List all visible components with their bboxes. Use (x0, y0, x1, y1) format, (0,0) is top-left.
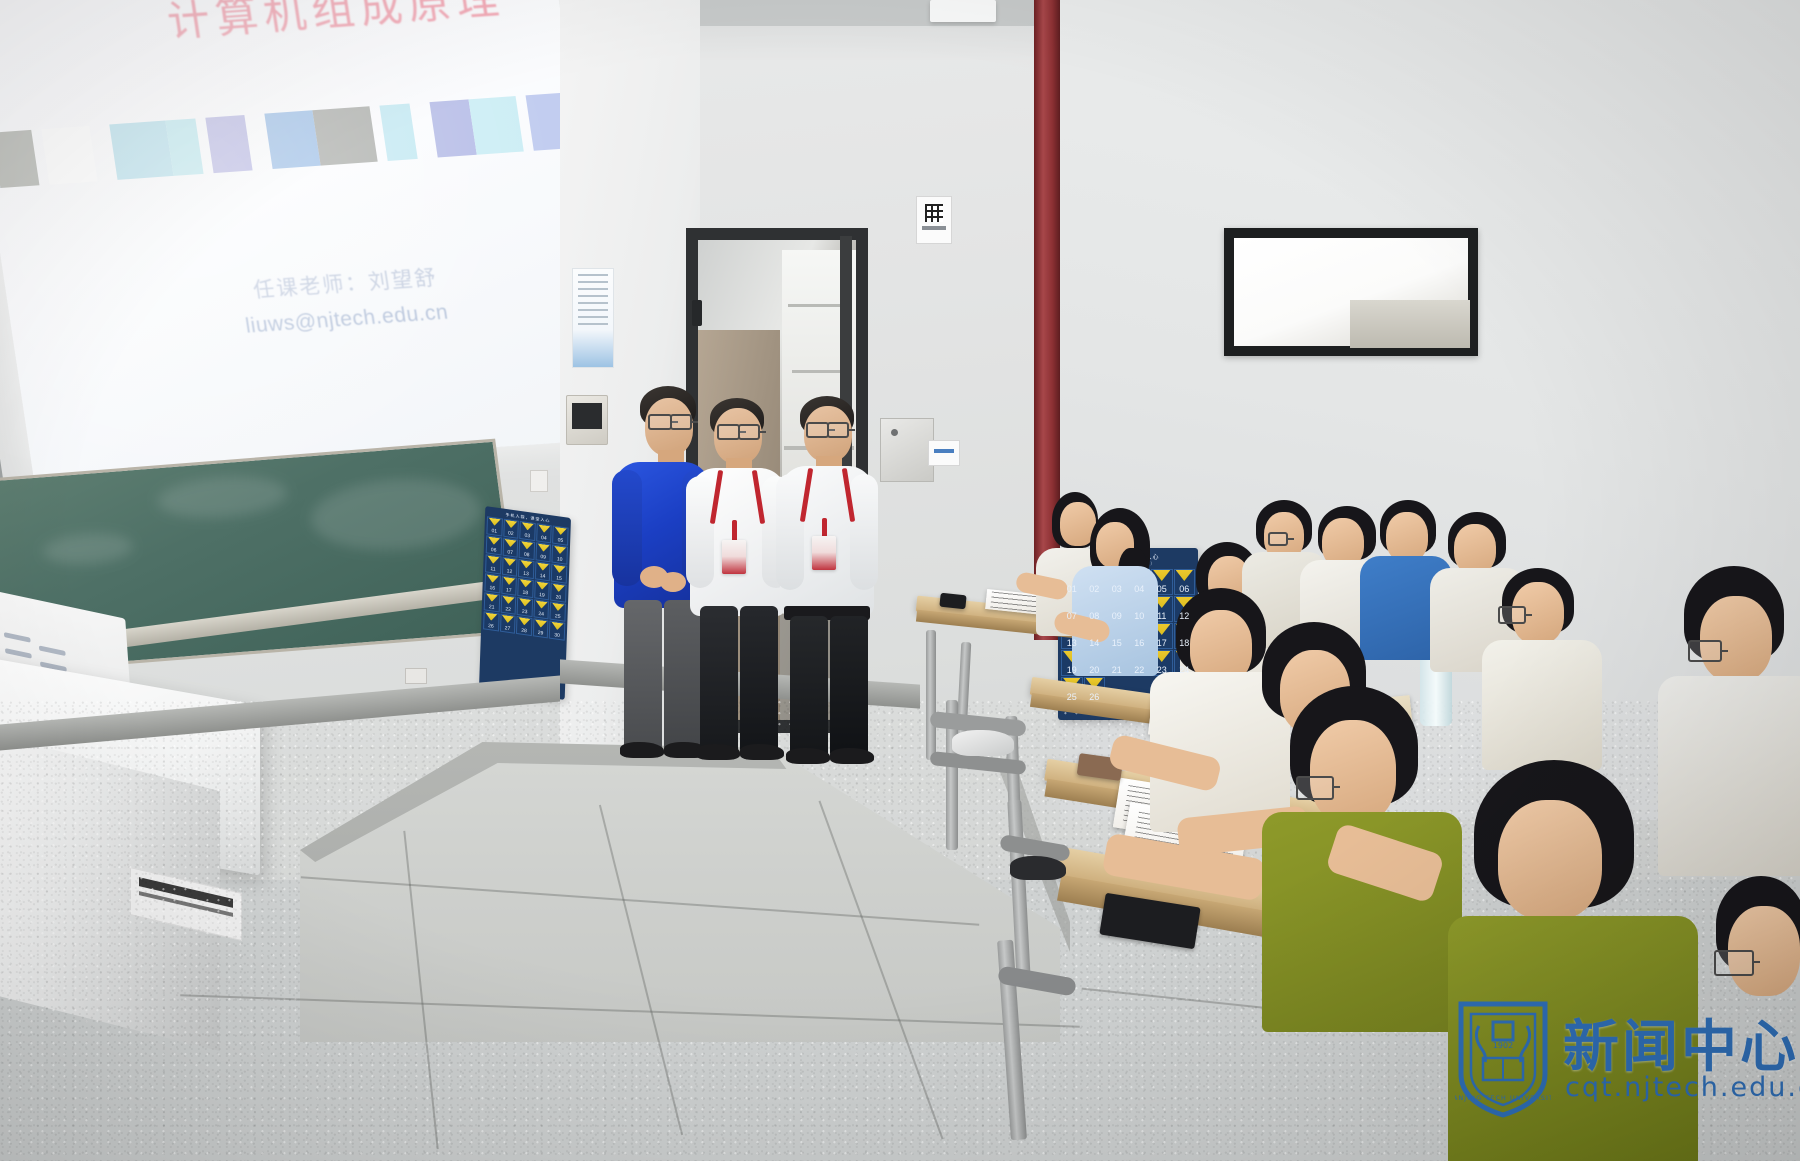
pocket-number: 12 (1179, 612, 1189, 621)
phone-pocket: 06 (1174, 569, 1196, 595)
wall-poster (572, 268, 614, 368)
pocket-number: 06 (491, 548, 497, 554)
pocket-number: 05 (558, 538, 564, 544)
pocket-number: 08 (1089, 612, 1099, 621)
pocket-number: 24 (1179, 666, 1189, 675)
pocket-number: 28 (521, 629, 527, 635)
phone-pocket: 21 (484, 592, 500, 612)
pocket-number: 05 (1157, 585, 1167, 594)
electrical-box (880, 418, 934, 482)
phone-pocket: 05 (552, 526, 568, 546)
pocket-number: 23 (1157, 666, 1167, 675)
pocket-number: 16 (1134, 639, 1144, 648)
qr-icon (925, 204, 943, 222)
university-shield-logo: 1902 NANJING TECH UNIVERSITY (1455, 1000, 1551, 1118)
phone-pocket: 02 (503, 519, 519, 539)
slide-bar-3 (109, 121, 174, 180)
phone-pocket: 04 (536, 523, 552, 543)
phone-pocket: 11 (485, 554, 501, 574)
phone-pocket: 22 (500, 595, 516, 615)
phone-pocket: 09 (535, 542, 551, 562)
shield-motto: NANJING TECH UNIVERSITY (1455, 1094, 1551, 1102)
pocket-number: 18 (522, 591, 528, 597)
pocket-number: 11 (1157, 612, 1166, 621)
phone-on-desk (939, 593, 966, 610)
pocket-number: 10 (1134, 612, 1144, 621)
phone-pocket: 14 (535, 561, 551, 581)
pocket-number: 04 (1134, 585, 1144, 594)
pocket-number: 17 (506, 588, 512, 594)
pocket-number: 06 (1179, 585, 1189, 594)
pocket-number: 25 (555, 614, 561, 620)
svg-text:1902: 1902 (1493, 1041, 1513, 1050)
pocket-number: 03 (1112, 585, 1122, 594)
pocket-number: 13 (1067, 639, 1077, 648)
pocket-number: 03 (524, 534, 530, 540)
pocket-number: 10 (557, 557, 563, 563)
pocket-number: 29 (538, 631, 544, 637)
pocket-number: 20 (1089, 666, 1099, 675)
phone-pocket: 06 (486, 535, 502, 555)
pocket-number: 26 (1089, 693, 1099, 702)
phone-pocket: 18 (517, 578, 533, 598)
phone-pocket: 16 (484, 573, 500, 593)
light-switch (530, 470, 548, 492)
pocket-number: 04 (541, 536, 547, 542)
door-number-plate (928, 440, 960, 466)
pocket-number: 07 (1067, 612, 1077, 621)
phone-pocket: 27 (500, 614, 516, 634)
student-sneaker (952, 730, 1014, 756)
slide-accent-bars (0, 90, 611, 190)
red-pillar (1034, 0, 1060, 640)
phone-pocket: 10 (552, 545, 568, 565)
slide-bar-8 (379, 103, 417, 160)
pocket-number: 18 (1179, 639, 1189, 648)
slide-bar-1 (0, 130, 39, 188)
phone-pocket: 26 (483, 611, 499, 631)
pocket-number: 25 (1067, 693, 1077, 702)
phone-pocket: 07 (502, 538, 518, 558)
phone-pocket: 19 (534, 580, 550, 600)
wall-device-panel (566, 395, 608, 445)
news-center-watermark: 1902 NANJING TECH UNIVERSITY 新闻中心 cqt.nj… (1455, 1000, 1785, 1125)
pocket-number: 24 (538, 612, 544, 618)
pocket-number: 14 (540, 574, 546, 580)
id-badge-2 (812, 536, 836, 570)
pocket-number: 23 (522, 610, 528, 616)
phone-pocket: 01 (486, 516, 502, 536)
phone-pocket: 13 (518, 559, 534, 579)
pocket-number: 20 (556, 595, 562, 601)
pocket-number: 21 (1112, 666, 1122, 675)
ceiling-lamp-1 (930, 0, 996, 22)
slide-email: liuws@njtech.edu.cn (244, 301, 450, 339)
phone-pocket: 23 (517, 597, 533, 617)
qr-code-sign (916, 196, 952, 244)
pocket-number: 22 (1134, 666, 1144, 675)
phone-pocket: 12 (502, 557, 518, 577)
projection-screen: 计算机组成原理 任课老师：刘望舒 liuws@njtech.edu.cn (0, 0, 637, 499)
pocket-number: 09 (1112, 612, 1122, 621)
phone-pocket-board-left: 手机入袋，课堂入心 010203040506070809101112131415… (479, 506, 571, 700)
slide-title: 计算机组成原理 (163, 0, 508, 49)
phone-pocket: 08 (519, 540, 535, 560)
pocket-number: 08 (524, 553, 530, 559)
pocket-number: 22 (505, 607, 511, 613)
id-badge (722, 540, 746, 574)
pocket-number: 26 (488, 624, 494, 630)
watermark-org: 新闻中心 (1563, 1002, 1799, 1083)
student-shoe-2 (1010, 856, 1066, 880)
phone-pocket: 17 (501, 576, 517, 596)
door-hinge (692, 300, 702, 326)
pocket-number: 16 (489, 586, 495, 592)
pocket-number: 01 (491, 529, 497, 535)
pocket-number: 27 (505, 626, 511, 632)
phone-pocket: 25 (550, 602, 566, 622)
pocket-number: 13 (523, 572, 529, 578)
pocket-grid-left: 0102030405060708091011121314151617181920… (483, 516, 569, 640)
pocket-number: 17 (1157, 639, 1167, 648)
slide-bar-5 (206, 115, 253, 173)
pocket-number: 11 (490, 567, 495, 573)
slide-instructor: 任课老师：刘望舒 (251, 262, 440, 305)
slide-bar-2 (41, 126, 97, 185)
pocket-number: 30 (554, 633, 560, 639)
window-ledge (1350, 300, 1470, 348)
pocket-number: 12 (507, 569, 513, 575)
phone-pocket: 24 (533, 599, 549, 619)
pocket-number: 07 (507, 550, 513, 556)
pocket-number: 19 (1067, 666, 1077, 675)
phone-pocket: 29 (533, 618, 549, 638)
pocket-number: 19 (539, 593, 545, 599)
phone-pocket: 30 (549, 621, 565, 641)
phone-pocket: 28 (516, 616, 532, 636)
screen-surface: 计算机组成原理 任课老师：刘望舒 liuws@njtech.edu.cn (0, 0, 624, 480)
watermark-url: cqt.njtech.edu.cn (1565, 1072, 1800, 1103)
pocket-number: 02 (508, 531, 514, 537)
pocket-number: 15 (556, 576, 562, 582)
slide-bar-10 (468, 96, 524, 155)
slide-bar-7 (312, 106, 377, 165)
phone-pocket: 15 (551, 564, 567, 584)
phone-pocket: 20 (550, 583, 566, 603)
pocket-number: 02 (1089, 585, 1099, 594)
phone-pocket: 03 (519, 521, 535, 541)
pocket-number: 15 (1112, 639, 1122, 648)
slide-bar-6 (265, 110, 321, 169)
pocket-number: 14 (1089, 639, 1099, 648)
pocket-number: 01 (1067, 585, 1077, 594)
pocket-number: 21 (489, 605, 495, 611)
photo-canvas: 计算机组成原理 任课老师：刘望舒 liuws@njtech.edu.cn (0, 0, 1800, 1161)
pocket-number: 09 (540, 555, 546, 561)
wall-socket (405, 668, 427, 684)
